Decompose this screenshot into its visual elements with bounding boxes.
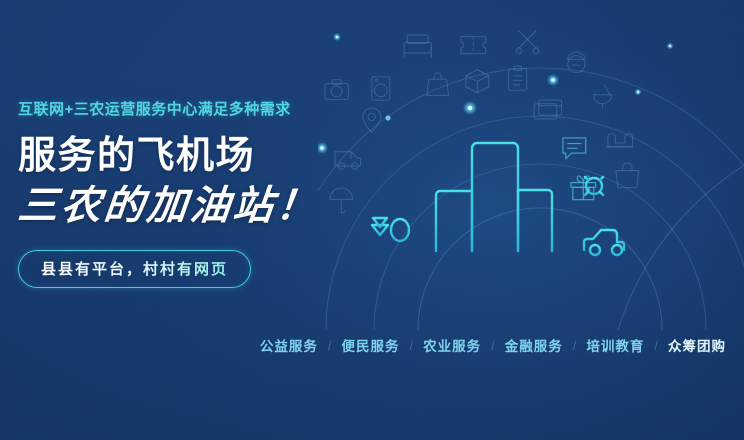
slogan-pill[interactable]: 县县有平台，村村有网页 — [18, 250, 251, 288]
service-nav: 公益服务/便民服务/农业服务/金融服务/培训教育/众筹团购 — [0, 330, 744, 360]
nav-item-1[interactable]: 公益服务 — [250, 335, 328, 355]
nav-item-5[interactable]: 培训教育 — [576, 335, 654, 355]
hero-copy: 互联网+三农运营服务中心满足多种需求 服务的飞机场 三农的加油站！ 县县有平台，… — [18, 100, 368, 288]
nav-item-6[interactable]: 众筹团购 — [658, 335, 736, 355]
nav-item-4[interactable]: 金融服务 — [495, 335, 573, 355]
hero-headline-line1: 服务的飞机场 — [18, 134, 368, 178]
hero-subtitle: 互联网+三农运营服务中心满足多种需求 — [18, 100, 368, 120]
hero-banner: 互联网+三农运营服务中心满足多种需求 服务的飞机场 三农的加油站！ 县县有平台，… — [0, 0, 744, 440]
hero-headline-line2: 三农的加油站！ — [15, 182, 370, 230]
nav-item-2[interactable]: 便民服务 — [332, 335, 410, 355]
slogan-pill-label: 县县有平台，村村有网页 — [41, 261, 228, 278]
nav-item-3[interactable]: 农业服务 — [413, 335, 491, 355]
